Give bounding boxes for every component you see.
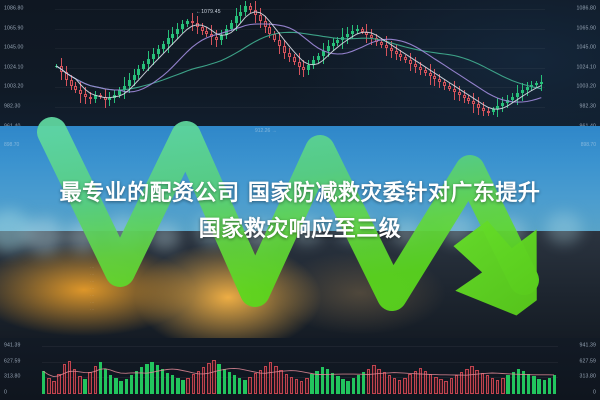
volume-axis-tick: 0 bbox=[4, 390, 7, 395]
volume-axis-tick: 313.80 bbox=[580, 374, 596, 379]
price-axis-tick: 1065.90 bbox=[577, 26, 596, 31]
price-axis-tick: 1003.20 bbox=[4, 85, 23, 90]
volume-axis-tick: 627.59 bbox=[580, 359, 596, 364]
stock-news-banner: 1086.801065.901045.001024.101003.20982.3… bbox=[0, 0, 600, 400]
volume-bars bbox=[42, 344, 558, 394]
ghost-axis-left: 898.70 bbox=[4, 142, 19, 148]
price-axis-tick: 1024.10 bbox=[577, 65, 596, 70]
price-axis-tick: 1045.00 bbox=[577, 46, 596, 51]
volume-ma-line bbox=[42, 344, 558, 394]
headline-line-1: 最专业的配资公司 国家防减救灾委针对广东提升 bbox=[0, 176, 600, 212]
ghost-axis-right: 898.70 bbox=[581, 142, 596, 148]
volume-axis-tick: 627.59 bbox=[4, 359, 20, 364]
volume-axis-tick: 941.39 bbox=[4, 343, 20, 348]
ghost-number-column: ······ bbox=[480, 276, 483, 297]
price-axis-tick: 1086.80 bbox=[4, 6, 23, 11]
price-axis-tick: 1045.00 bbox=[4, 46, 23, 51]
volume-axis-tick: 313.80 bbox=[4, 374, 20, 379]
headline-line-2: 国家救灾响应至三级 bbox=[0, 212, 600, 248]
peak-annotation: ←1079.45 bbox=[196, 9, 221, 15]
price-axis-tick: 1024.10 bbox=[4, 65, 23, 70]
price-axis-tick: 982.30 bbox=[4, 104, 20, 109]
price-axis-tick: 1065.90 bbox=[4, 26, 23, 31]
volume-axis-tick: 941.39 bbox=[580, 343, 596, 348]
headline: 最专业的配资公司 国家防减救灾委针对广东提升 国家救灾响应至三级 bbox=[0, 176, 600, 248]
volume-chart-panel: 941.39627.59313.800 941.39627.59313.800 bbox=[0, 338, 600, 400]
price-axis-tick: 982.30 bbox=[580, 104, 596, 109]
low-annotation: 912.26 → bbox=[255, 128, 277, 134]
ghost-number-column: ····················· bbox=[90, 264, 94, 313]
volume-axis-tick: 0 bbox=[593, 390, 596, 395]
price-axis-tick: 1086.80 bbox=[577, 6, 596, 11]
price-axis-tick: 1003.20 bbox=[577, 85, 596, 90]
